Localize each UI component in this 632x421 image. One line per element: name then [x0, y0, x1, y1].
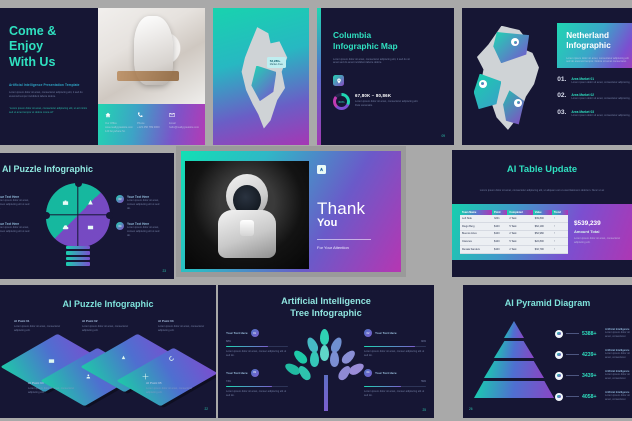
tier-value: 3439+ — [582, 373, 602, 379]
item-percent: 74% — [226, 380, 288, 383]
slide1-quote: “Lorem ipsum dolor sit amet, consectetur… — [9, 107, 88, 115]
list-item[interactable]: 02 Your Text Here 82% Lorem ipsum dolor … — [364, 329, 426, 358]
list-number: 01. — [557, 77, 566, 84]
tree-graphic — [288, 329, 364, 409]
briefcase-icon — [62, 199, 69, 206]
slide-columbia-infographic-map[interactable]: Columbia Infographic Map Lorem ipsum dol… — [317, 8, 454, 145]
tier-value: 4058+ — [582, 394, 602, 400]
data-table[interactable]: Team Name Point Completed Value Trend Le… — [460, 210, 568, 254]
slide9-title: Artificial Intelligence Tree Infographic — [218, 296, 434, 320]
amount-label: Amount Total — [574, 229, 624, 234]
pyramid-row[interactable]: 4239+ Artificial Intelligence Lorem ipsu… — [555, 344, 631, 365]
netherland-title-card: Netherland Infographic Lorem ipsum dolor… — [557, 23, 632, 68]
map-pin-2[interactable] — [479, 80, 487, 88]
list-desc: Lorem ipsum dolor sit amet, consectetur … — [571, 81, 630, 85]
briefcase-icon — [48, 357, 55, 364]
list-item[interactable]: 02. Area Market 02 Lorem ipsum dolor sit… — [557, 93, 632, 101]
pyramid-row[interactable]: 3439+ Artificial Intelligence Lorem ipsu… — [555, 365, 631, 386]
slide7-title: AI Table Update — [452, 163, 632, 174]
list-number: 03. — [557, 110, 566, 117]
slide-ai-pyramid-diagram[interactable]: AI Pyramid Diagram 5388+ Artificial Inte… — [463, 285, 632, 418]
thank-you-subtitle: For Your Attention — [317, 245, 405, 250]
point-3[interactable]: AI Point 03 Lorem ipsum dolor sit amet, … — [158, 319, 206, 333]
contact-office: Our Office www.reallygreatsite.com 123 A… — [105, 112, 134, 137]
contact-office-value: www.reallygreatsite.com 123 Anywhere St. — [105, 126, 134, 134]
page-number: 26 — [469, 407, 473, 411]
slide-gallery: Come & Enjoy With Us Artificial Intellig… — [0, 0, 632, 421]
slide4-card-body: Lorem ipsum dolor sit amet, consectetur … — [566, 57, 631, 65]
robot-photo — [185, 161, 309, 269]
slide3-body: Lorem ipsum dolor sit amet, consectetur … — [333, 58, 415, 66]
list-desc: Lorem ipsum dolor sit amet, consectetur … — [571, 97, 630, 101]
accent-bar — [317, 8, 321, 145]
network-icon — [87, 199, 94, 206]
tier-icon — [555, 372, 563, 380]
table-panel: Team Name Point Completed Value Trend Le… — [452, 204, 632, 260]
lightbulb-puzzle-graphic — [46, 183, 110, 247]
slide1-text-panel: Come & Enjoy With Us Artificial Intellig… — [0, 8, 98, 145]
ai-logo-icon — [317, 165, 326, 174]
bulb-base — [66, 246, 90, 266]
netherland-map — [469, 26, 551, 130]
location-pin-icon — [333, 75, 344, 86]
point-2[interactable]: AI Point 02 Lorem ipsum dolor sit amet, … — [82, 319, 130, 333]
list-item[interactable]: Your Text Here 03 74% Lorem ipsum dolor … — [226, 369, 288, 398]
tree-left-items: Your Text Here 01 68% Lorem ipsum dolor … — [226, 329, 288, 398]
list-item[interactable]: 04 Your Text Here 59% Lorem ipsum dolor … — [364, 369, 426, 398]
pyramid-graphic — [473, 321, 555, 407]
tier-icon — [555, 393, 563, 401]
amount-summary: $539,239 Amount Total Lorem ipsum dolor … — [574, 210, 624, 254]
amount-desc: Lorem ipsum dolor sit amet, consectetur … — [574, 237, 624, 245]
item-desc: Lorem ipsum dolor sit amet, consec adipi… — [127, 226, 162, 237]
thank-you-text: Thank You For Your Attention — [317, 165, 405, 250]
item-percent: 59% — [364, 380, 426, 383]
item-desc: Lorem ipsum dolor sit amet, consec adipi… — [127, 199, 162, 210]
cloud-icon — [62, 224, 69, 231]
pyramid-row[interactable]: 4058+ Artificial Intelligence Lorem ipsu… — [555, 386, 631, 407]
item-desc: Lorem ipsum dolor sit amet, consec adipi… — [0, 226, 32, 237]
page-number: 22 — [204, 407, 208, 411]
pyramid-rows: 5388+ Artificial Intelligence Lorem ipsu… — [555, 323, 631, 407]
point-5[interactable]: AI Point 05 Lorem ipsum dolor sit amet, … — [146, 381, 194, 395]
slide3-title: Columbia Infographic Map — [333, 30, 440, 52]
robot-figure — [217, 174, 277, 256]
item-percent: 82% — [364, 340, 426, 343]
map-tooltip: 53,280+ Market Area — [267, 57, 286, 68]
netherland-area-list: 01. Area Market 01 Lorem ipsum dolor sit… — [557, 77, 632, 127]
slide-columbia-map-visual[interactable]: 53,280+ Market Area — [213, 8, 309, 145]
slide-thank-you[interactable]: Thank You For Your Attention — [176, 146, 406, 277]
list-desc: Lorem ipsum dolor sit amet, consectetur … — [571, 114, 630, 118]
list-item[interactable]: 04 Your Text Here Lorem ipsum dolor sit … — [116, 222, 162, 237]
table-row[interactable]: Diego Berg $100 5 Task $62,190 ↑ — [460, 222, 568, 230]
people-icon — [86, 373, 93, 380]
snowflake-icon — [142, 373, 149, 380]
page-number: 23 — [162, 269, 166, 273]
slide8-title: AI Puzzle Infographic — [0, 299, 216, 309]
contact-phone-value: +123 456 789 0000 — [137, 126, 166, 130]
slide1-subtitle: Artificial Intelligence Presentation Tem… — [9, 83, 88, 87]
thank-you-title-1: Thank — [317, 200, 405, 217]
table-row[interactable]: Clarence $100 5 Task $22,800 ↑ — [460, 238, 568, 246]
tier-value: 5388+ — [582, 331, 602, 337]
thank-you-title-2: You — [317, 217, 405, 231]
pyramid-row[interactable]: 5388+ Artificial Intelligence Lorem ipsu… — [555, 323, 631, 344]
slide1-title: Come & Enjoy With Us — [9, 24, 88, 70]
table-row[interactable]: Buenos Aires $100 2 Task $52,980 ↑ — [460, 230, 568, 238]
table-row[interactable]: Left Side 3201 2 Task $39,800 ↑ — [460, 215, 568, 222]
tier-icon — [555, 330, 563, 338]
slide1-body: Lorem ipsum dolor sit amet, consectetur … — [9, 91, 88, 99]
slide5-right-items: 03 Your Text Here Lorem ipsum dolor sit … — [116, 195, 162, 250]
refresh-icon — [168, 355, 175, 362]
list-item[interactable]: Your Text Here 01 68% Lorem ipsum dolor … — [226, 329, 288, 358]
slide-come-and-enjoy[interactable]: Come & Enjoy With Us Artificial Intellig… — [0, 8, 205, 145]
list-item[interactable]: 01. Area Market 01 Lorem ipsum dolor sit… — [557, 77, 632, 85]
contact-email: Email hello@reallygreatsite.com — [169, 112, 198, 137]
robot-hand-photo — [98, 8, 205, 104]
tree-right-items: 02 Your Text Here 82% Lorem ipsum dolor … — [364, 329, 426, 398]
list-item[interactable]: 01 Your Text Here Lorem ipsum dolor sit … — [0, 195, 32, 210]
list-item[interactable]: 02 Your Text Here Lorem ipsum dolor sit … — [0, 222, 32, 237]
map-tooltip-label: Market Area — [270, 63, 283, 66]
item-badge: 03 — [116, 195, 124, 203]
stat-desc: Lorem ipsum dolor sit amet, consectetur … — [355, 100, 419, 108]
slide-ai-table-update[interactable]: AI Table Update Lorem ipsum dolor sit am… — [452, 150, 632, 277]
card-icon — [87, 224, 94, 231]
slide-ai-tree-infographic[interactable]: Artificial Intelligence Tree Infographic… — [218, 285, 434, 418]
donut-chart: 60% — [333, 93, 350, 110]
rocket-icon — [120, 355, 127, 362]
slide5-title: AI Puzzle Infographic — [2, 164, 93, 174]
page-number: 25 — [422, 408, 426, 412]
slide4-title: Netherland Infographic — [566, 31, 631, 52]
list-item[interactable]: 03 Your Text Here Lorem ipsum dolor sit … — [116, 195, 162, 210]
divider — [317, 239, 371, 240]
list-number: 02. — [557, 93, 566, 100]
slide5-left-items: 01 Your Text Here Lorem ipsum dolor sit … — [0, 195, 32, 250]
contact-email-value: hello@reallygreatsite.com — [169, 126, 198, 130]
list-item[interactable]: 03. Area Market 03 Lorem ipsum dolor sit… — [557, 110, 632, 118]
slide-ai-puzzle-bulb[interactable]: AI Puzzle Infographic 01 Your Text Here … — [0, 153, 174, 279]
slide-ai-puzzle-isometric[interactable]: AI Puzzle Infographic AI Point 01 Lorem … — [0, 285, 216, 418]
tier-value: 4239+ — [582, 352, 602, 358]
contact-phone: Phone +123 456 789 0000 — [137, 112, 166, 137]
amount-value: $539,239 — [574, 220, 624, 227]
slide1-contact-bar: Our Office www.reallygreatsite.com 123 A… — [98, 104, 205, 145]
item-percent: 68% — [226, 340, 288, 343]
page-number: 09 — [441, 134, 445, 138]
table-row[interactable]: Renaia Sanders $100 2 Task $32,790 ↑ — [460, 246, 568, 254]
donut-value: 60% — [336, 96, 347, 107]
home-icon — [105, 112, 111, 118]
slide-netherland-infographic[interactable]: Netherland Infographic Lorem ipsum dolor… — [462, 8, 632, 145]
item-desc: Lorem ipsum dolor sit amet, consec adipi… — [0, 199, 32, 210]
point-4[interactable]: AI Point 04 Lorem ipsum dolor sit amet, … — [28, 381, 76, 395]
tier-icon — [555, 351, 563, 359]
mail-icon — [169, 112, 175, 118]
stat-range: 67,80K – 80,86K — [355, 93, 419, 98]
item-badge: 04 — [116, 222, 124, 230]
slide10-title: AI Pyramid Diagram — [463, 298, 632, 308]
phone-icon — [137, 112, 143, 118]
point-1[interactable]: AI Point 01 Lorem ipsum dolor sit amet, … — [14, 319, 62, 333]
